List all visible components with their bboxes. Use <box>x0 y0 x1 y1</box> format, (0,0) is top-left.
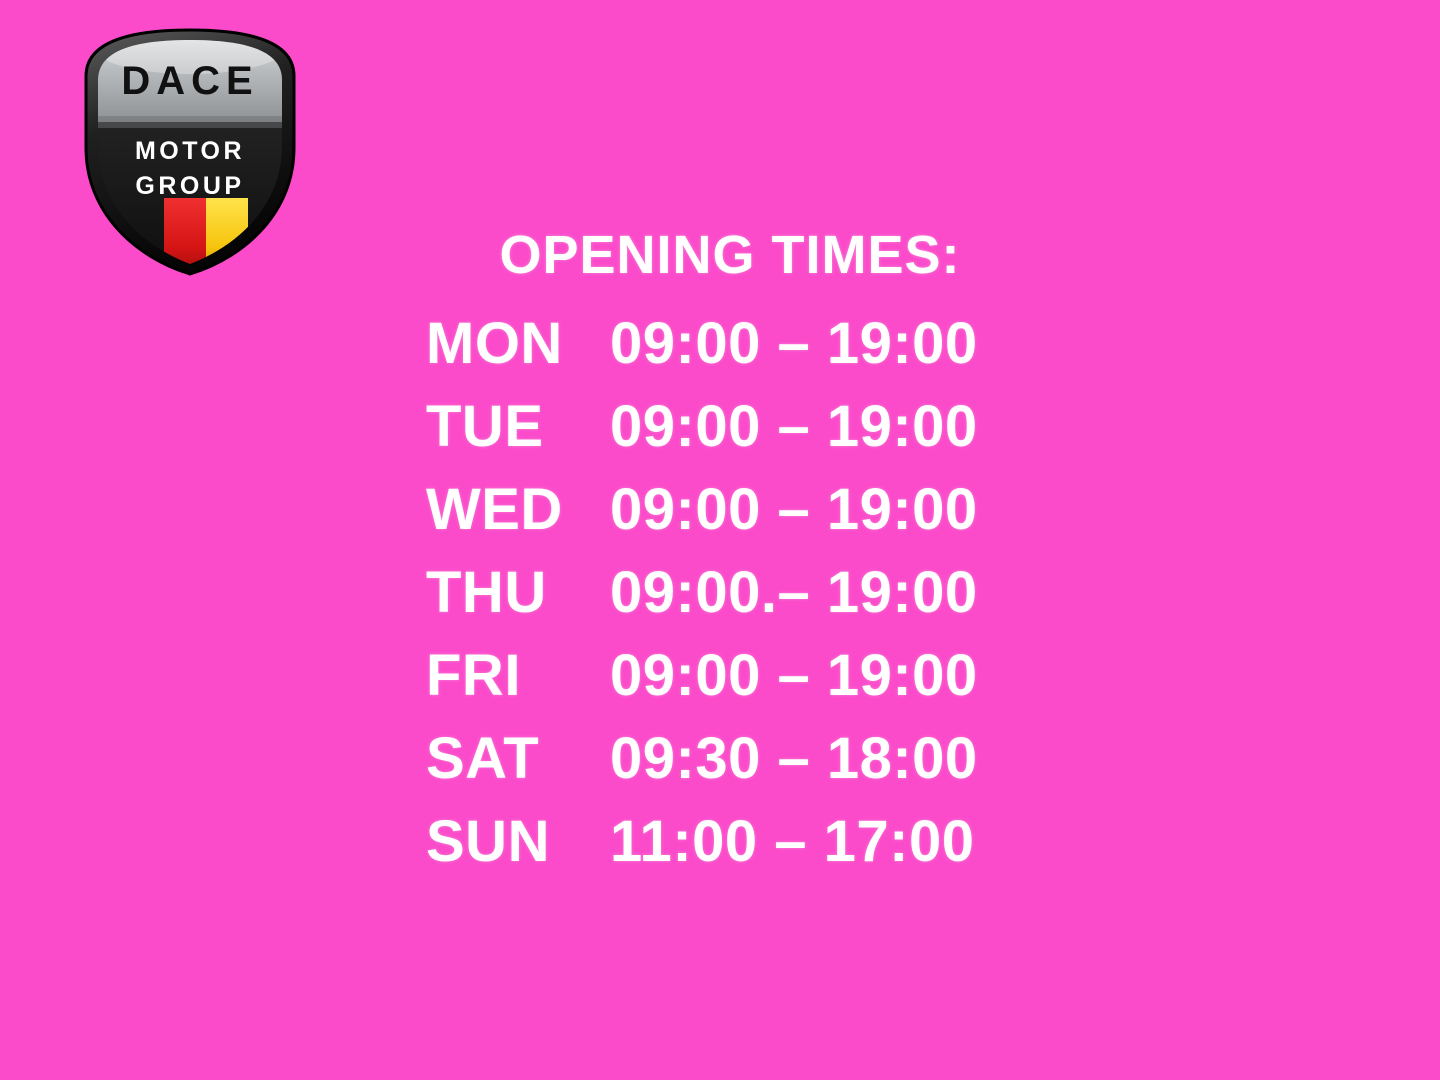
schedule-row-tue: TUE 09:00 – 19:00 <box>426 393 1440 476</box>
day-hours-sat: 09:30 – 18:00 <box>610 725 978 792</box>
schedule-row-mon: MON 09:00 – 19:00 <box>426 310 1440 393</box>
day-label-fri: FRI <box>426 642 610 709</box>
logo-brand-dace: DACE <box>121 59 258 103</box>
day-label-sun: SUN <box>426 808 610 875</box>
logo-brand-motor: MOTOR <box>135 137 245 165</box>
schedule-row-wed: WED 09:00 – 19:00 <box>426 476 1440 559</box>
logo-brand-group: GROUP <box>135 172 244 200</box>
opening-times-poster: DACE MOTOR GROUP OPENING TIMES: MON 09:0… <box>0 0 1440 1080</box>
schedule-row-fri: FRI 09:00 – 19:00 <box>426 642 1440 725</box>
day-hours-tue: 09:00 – 19:00 <box>610 393 978 460</box>
schedule-row-sat: SAT 09:30 – 18:00 <box>426 725 1440 808</box>
schedule-rows: MON 09:00 – 19:00 TUE 09:00 – 19:00 WED … <box>0 310 1440 891</box>
day-label-tue: TUE <box>426 393 610 460</box>
day-hours-sun: 11:00 – 17:00 <box>610 808 974 875</box>
day-hours-fri: 09:00 – 19:00 <box>610 642 978 709</box>
dace-motor-group-logo: DACE MOTOR GROUP <box>82 26 328 276</box>
day-label-sat: SAT <box>426 725 610 792</box>
day-label-thu: THU <box>426 559 610 626</box>
day-label-mon: MON <box>426 310 610 377</box>
day-hours-thu: 09:00.– 19:00 <box>610 559 978 626</box>
schedule-row-thu: THU 09:00.– 19:00 <box>426 559 1440 642</box>
opening-times-block: OPENING TIMES: MON 09:00 – 19:00 TUE 09:… <box>0 228 1440 891</box>
day-hours-mon: 09:00 – 19:00 <box>610 310 978 377</box>
day-label-wed: WED <box>426 476 610 543</box>
schedule-row-sun: SUN 11:00 – 17:00 <box>426 808 1440 891</box>
day-hours-wed: 09:00 – 19:00 <box>610 476 978 543</box>
shield-logo-icon: DACE MOTOR GROUP <box>82 26 328 276</box>
